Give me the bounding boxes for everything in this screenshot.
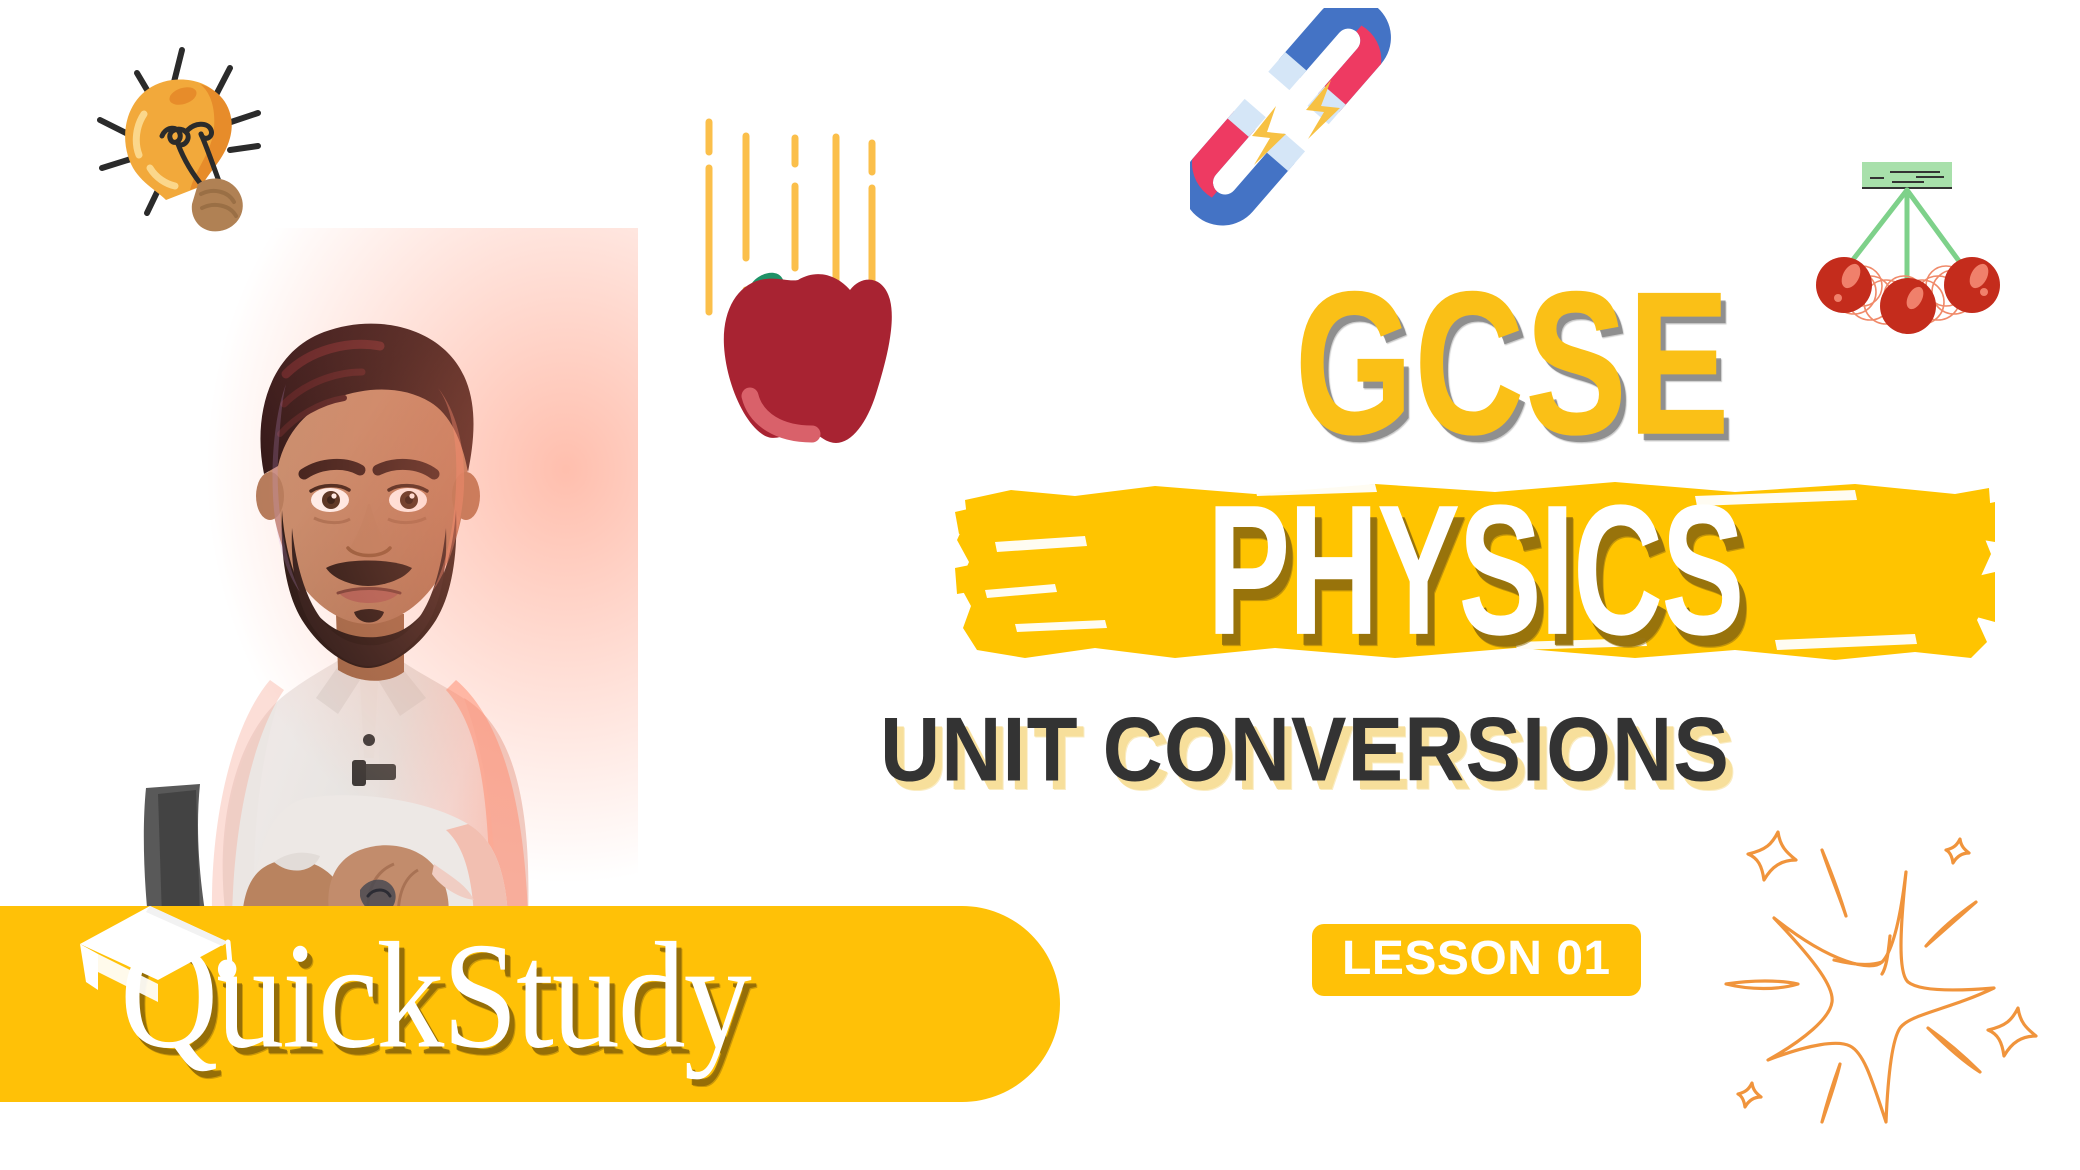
graduation-cap-icon	[62, 898, 242, 1048]
page-title-physics: PHYSICS	[1049, 451, 1902, 685]
lesson-badge[interactable]: LESSON 01	[1312, 924, 1641, 996]
lightbulb-icon	[62, 28, 294, 240]
page-subtitle: UNIT CONVERSIONS	[880, 704, 1730, 795]
falling-apple-icon	[690, 100, 942, 460]
lesson-badge-label: LESSON 01	[1342, 935, 1611, 983]
pendulum-icon	[1812, 140, 2054, 340]
sparkle-star-icon	[1722, 812, 2054, 1124]
page-title-gcse: GCSE	[1295, 262, 1731, 465]
physics-banner: PHYSICS	[955, 472, 1995, 664]
presenter-photo	[38, 228, 638, 918]
magnets-icon	[1190, 8, 1412, 240]
thumbnail-canvas: GCSE PHYSICS UNIT CONVERSIONS LESSON 01	[0, 0, 2080, 1170]
